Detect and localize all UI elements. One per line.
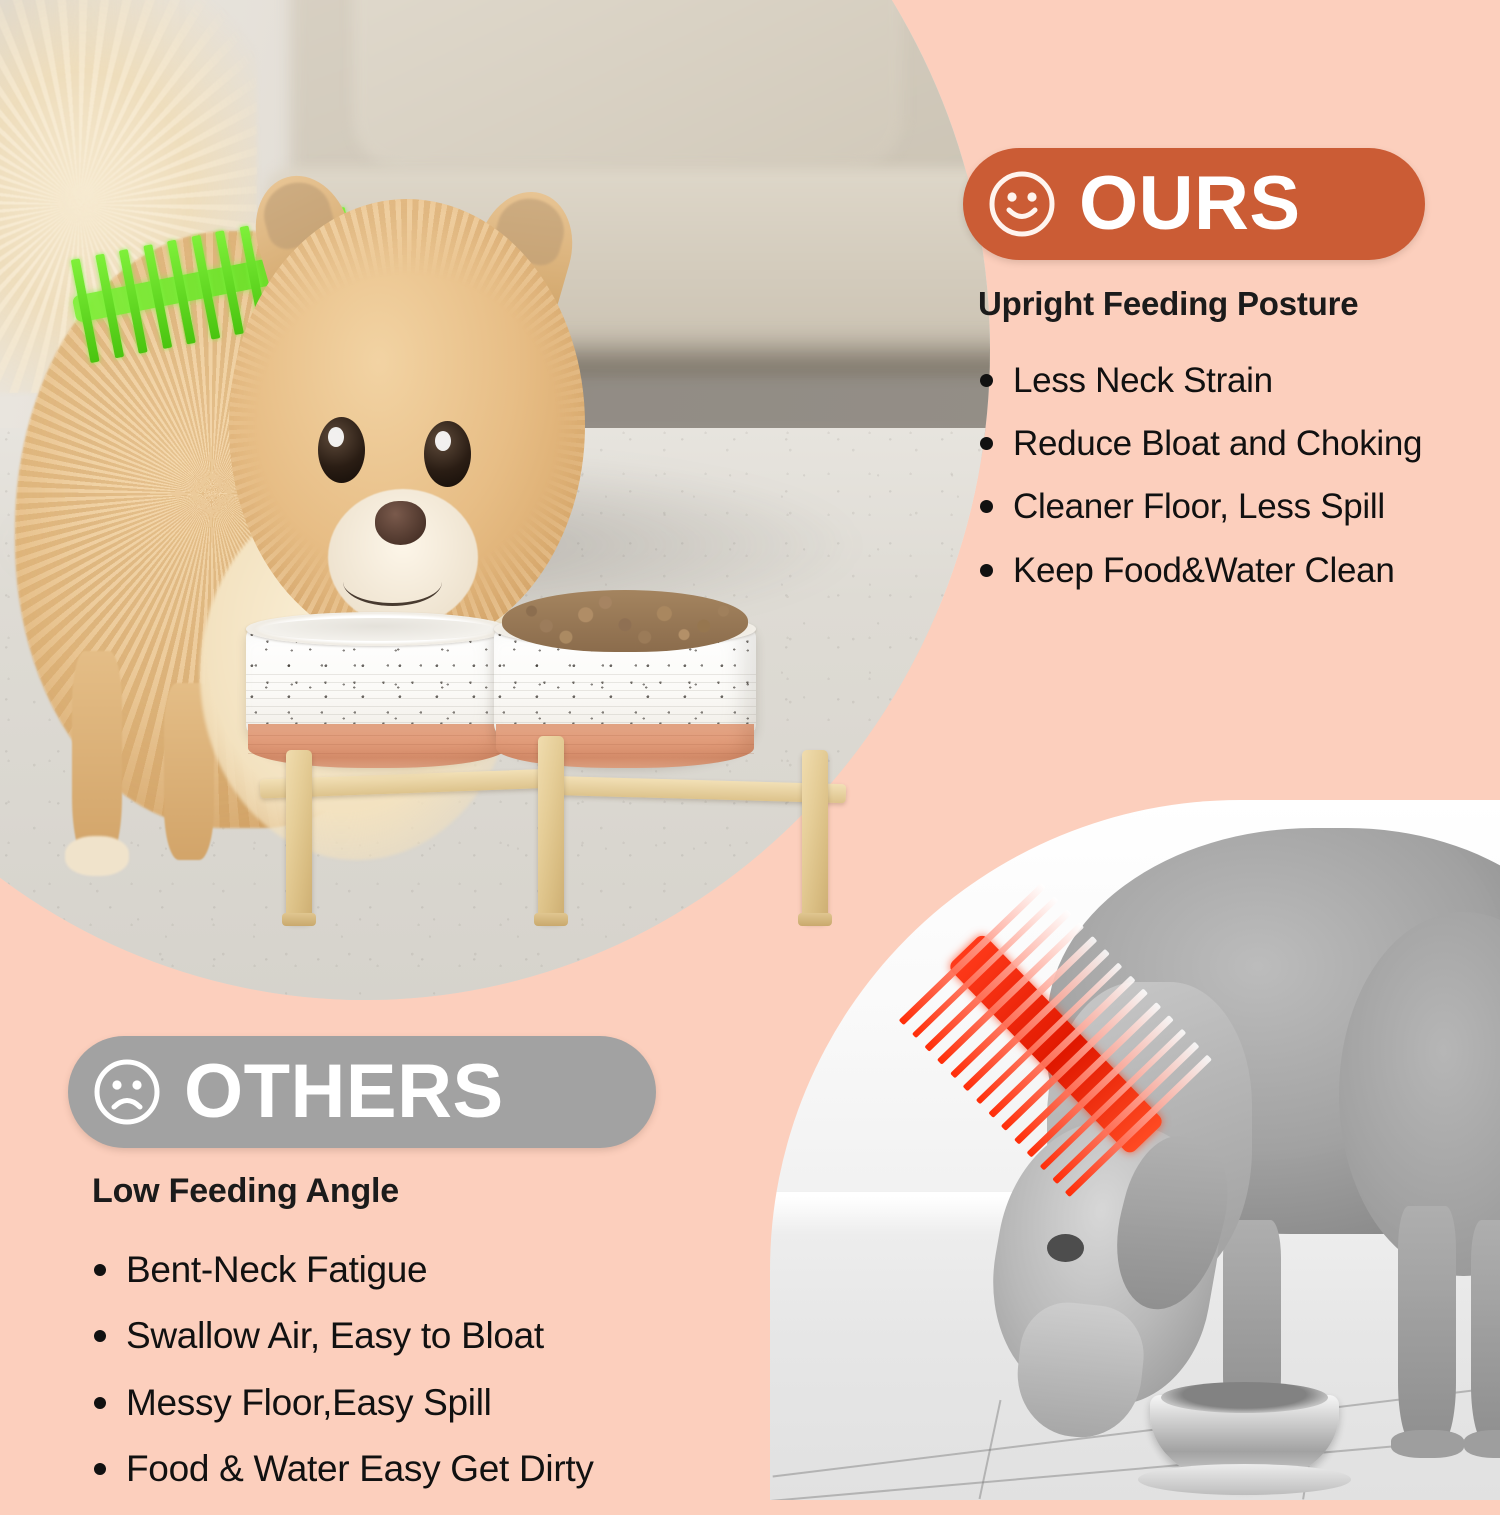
others-badge: OTHERS bbox=[68, 1036, 656, 1148]
list-item: Keep Food&Water Clean bbox=[978, 551, 1478, 590]
stand-leg-center bbox=[538, 736, 564, 922]
large-dog-paw bbox=[1391, 1430, 1464, 1458]
tile-grout-line bbox=[771, 1436, 1498, 1500]
water-bowl-interior bbox=[259, 618, 495, 641]
others-bullet-label: Swallow Air, Easy to Bloat bbox=[126, 1315, 544, 1356]
ours-badge: OURS bbox=[963, 148, 1425, 260]
list-item: Reduce Bloat and Choking bbox=[978, 424, 1478, 463]
dog-left-eye bbox=[318, 417, 365, 483]
ours-bullet-label: Keep Food&Water Clean bbox=[1013, 551, 1395, 590]
bullet-dot-icon bbox=[94, 1397, 106, 1409]
others-bullet-label: Food & Water Easy Get Dirty bbox=[126, 1448, 594, 1489]
kibble-food-pile bbox=[502, 590, 748, 652]
bullet-dot-icon bbox=[980, 374, 993, 387]
dog-nose bbox=[375, 501, 426, 545]
frowning-face-icon bbox=[90, 1055, 164, 1129]
list-item: Less Neck Strain bbox=[978, 361, 1478, 400]
food-bowl-terracotta-band bbox=[496, 724, 754, 768]
stand-foot-left bbox=[282, 913, 316, 926]
stand-foot-center bbox=[534, 913, 568, 926]
bullet-dot-icon bbox=[980, 500, 993, 513]
dog-mouth bbox=[343, 558, 443, 606]
stand-leg-left bbox=[286, 750, 312, 922]
dog-front-leg bbox=[72, 651, 122, 861]
ours-heading: Upright Feeding Posture bbox=[978, 285, 1478, 323]
band-rib-texture bbox=[496, 735, 754, 755]
list-item: Swallow Air, Easy to Bloat bbox=[92, 1315, 652, 1356]
bullet-dot-icon bbox=[980, 437, 993, 450]
large-dog-eating-from-floor-bowl-photo bbox=[770, 800, 1500, 1500]
stainless-steel-floor-bowl bbox=[1150, 1395, 1340, 1486]
list-item: Food & Water Easy Get Dirty bbox=[92, 1448, 652, 1489]
list-item: Bent-Neck Fatigue bbox=[92, 1249, 652, 1290]
bullet-dot-icon bbox=[94, 1330, 106, 1342]
ours-badge-label: OURS bbox=[1079, 166, 1301, 242]
bullet-dot-icon bbox=[980, 564, 993, 577]
list-item: Messy Floor,Easy Spill bbox=[92, 1382, 652, 1423]
others-bullet-label: Messy Floor,Easy Spill bbox=[126, 1382, 492, 1423]
ours-bullet-label: Reduce Bloat and Choking bbox=[1013, 424, 1422, 463]
food-bowl bbox=[494, 612, 756, 787]
others-bullet-label: Bent-Neck Fatigue bbox=[126, 1249, 427, 1290]
smiley-face-icon bbox=[985, 167, 1059, 241]
large-dog-rear-leg bbox=[1398, 1206, 1456, 1444]
bullet-dot-icon bbox=[94, 1463, 106, 1475]
others-drawback-list: Bent-Neck Fatigue Swallow Air, Easy to B… bbox=[92, 1249, 652, 1490]
ours-text-block: Upright Feeding Posture Less Neck Strain… bbox=[978, 285, 1478, 614]
others-text-block: Low Feeding Angle Bent-Neck Fatigue Swal… bbox=[92, 1172, 652, 1515]
large-dog-eye bbox=[1047, 1234, 1084, 1262]
ours-benefit-list: Less Neck Strain Reduce Bloat and Chokin… bbox=[978, 361, 1478, 590]
ours-bullet-label: Cleaner Floor, Less Spill bbox=[1013, 487, 1385, 526]
others-heading: Low Feeding Angle bbox=[92, 1172, 652, 1211]
others-badge-label: OTHERS bbox=[184, 1054, 504, 1130]
bullet-dot-icon bbox=[94, 1264, 106, 1276]
list-item: Cleaner Floor, Less Spill bbox=[978, 487, 1478, 526]
dog-paw bbox=[65, 836, 129, 876]
large-dog-rear-leg bbox=[1471, 1220, 1500, 1444]
ours-bullet-label: Less Neck Strain bbox=[1013, 361, 1273, 400]
